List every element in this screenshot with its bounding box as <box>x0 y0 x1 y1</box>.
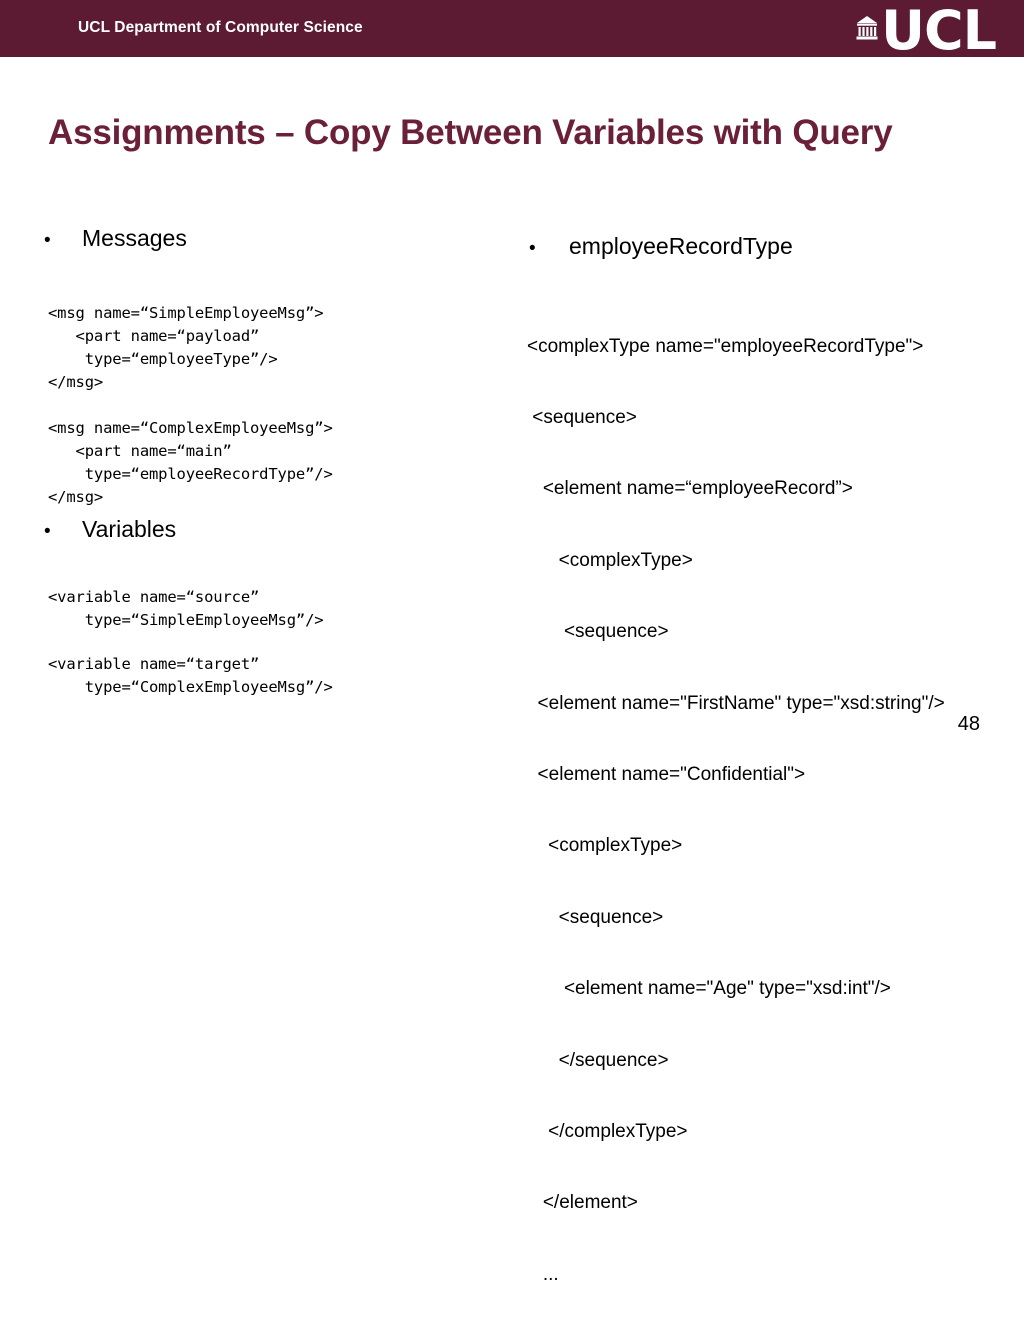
code-line: <element name="Confidential"> <box>527 763 945 787</box>
code-line: </complexType> <box>527 1120 945 1144</box>
page-number: 48 <box>958 713 980 736</box>
code-line: <element name="FirstName" type="xsd:stri… <box>527 692 945 716</box>
code-line: <sequence> <box>527 906 945 930</box>
code-line: <element name=“employeeRecord”> <box>527 477 945 501</box>
right-column: • employeeRecordType <complexType name="… <box>0 0 1024 768</box>
code-line: <complexType> <box>527 834 945 858</box>
code-line: <sequence> <box>527 620 945 644</box>
code-line: <sequence> <box>527 406 945 430</box>
code-line: <complexType name="employeeRecordType"> <box>527 335 945 359</box>
code-line: <element name="Age" type="xsd:int"/> <box>527 977 945 1001</box>
bullet-item-employee-record-type: • employeeRecordType <box>529 235 793 258</box>
code-line: </sequence> <box>527 1049 945 1073</box>
code-block-employee-record-type-schema: <complexType name="employeeRecordType"> … <box>527 287 945 1334</box>
code-line: <complexType> <box>527 549 945 573</box>
code-line: ... <box>527 1263 945 1287</box>
code-line: </element> <box>527 1191 945 1215</box>
bullet-label-employee-record-type: employeeRecordType <box>569 235 793 258</box>
bullet-marker-icon: • <box>529 239 569 258</box>
